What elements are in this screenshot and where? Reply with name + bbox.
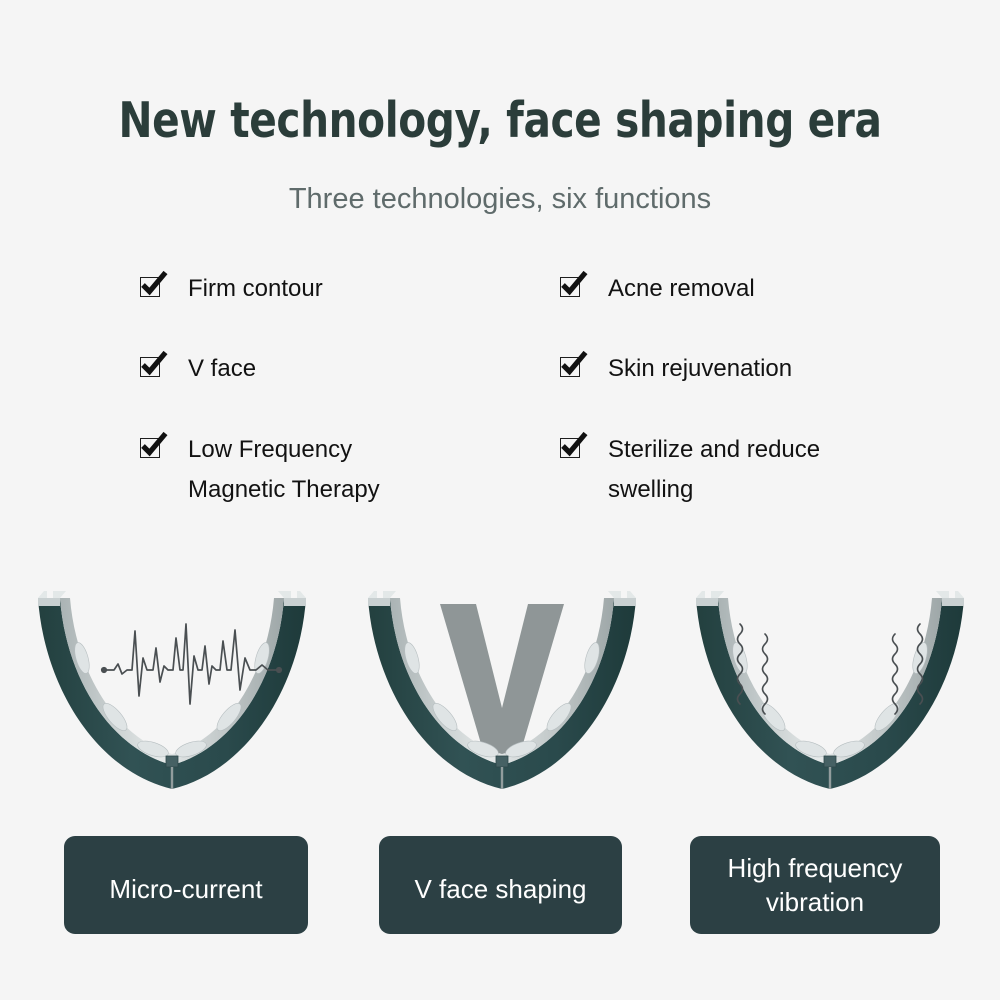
- feature-label: Low Frequency Magnetic Therapy: [188, 430, 380, 509]
- feature-item-firm-contour: Firm contour: [140, 272, 323, 309]
- caption-label: V face shaping: [414, 872, 586, 906]
- caption-label: High frequency vibration: [728, 851, 903, 920]
- feature-label: V face: [188, 349, 256, 389]
- infographic-page: New technology, face shaping era Three t…: [0, 0, 1000, 1000]
- checked-checkbox-icon: [560, 277, 582, 299]
- caption-card-v-face-shaping[interactable]: V face shaping: [379, 836, 622, 934]
- feature-label: Acne removal: [608, 269, 755, 309]
- feature-item-sterilize-and-reduce-swelling: Sterilize and reduce swelling: [560, 433, 820, 509]
- feature-item-acne-removal: Acne removal: [560, 272, 755, 309]
- page-title: New technology, face shaping era: [85, 92, 915, 149]
- caption-card-high-frequency-vibration[interactable]: High frequency vibration: [690, 836, 940, 934]
- v-face-shaping-device: [352, 586, 652, 811]
- high-frequency-vibration-device: [680, 586, 980, 811]
- checked-checkbox-icon: [560, 357, 582, 379]
- device-gallery: [0, 586, 1000, 811]
- feature-list: Firm contour V face Low Frequency Magnet…: [140, 272, 900, 522]
- feature-label: Firm contour: [188, 269, 323, 309]
- feature-label: Skin rejuvenation: [608, 349, 792, 389]
- caption-card-row: Micro-current V face shaping High freque…: [0, 836, 1000, 940]
- checked-checkbox-icon: [140, 277, 162, 299]
- feature-label: Sterilize and reduce swelling: [608, 430, 820, 509]
- feature-item-v-face: V face: [140, 352, 256, 389]
- page-subtitle: Three technologies, six functions: [0, 183, 1000, 216]
- caption-card-micro-current[interactable]: Micro-current: [64, 836, 308, 934]
- checked-checkbox-icon: [560, 438, 582, 460]
- checked-checkbox-icon: [140, 438, 162, 460]
- micro-current-device: [22, 586, 322, 811]
- feature-item-skin-rejuvenation: Skin rejuvenation: [560, 352, 792, 389]
- caption-label: Micro-current: [109, 872, 262, 906]
- feature-item-low-frequency-magnetic-therapy: Low Frequency Magnetic Therapy: [140, 433, 380, 509]
- checked-checkbox-icon: [140, 357, 162, 379]
